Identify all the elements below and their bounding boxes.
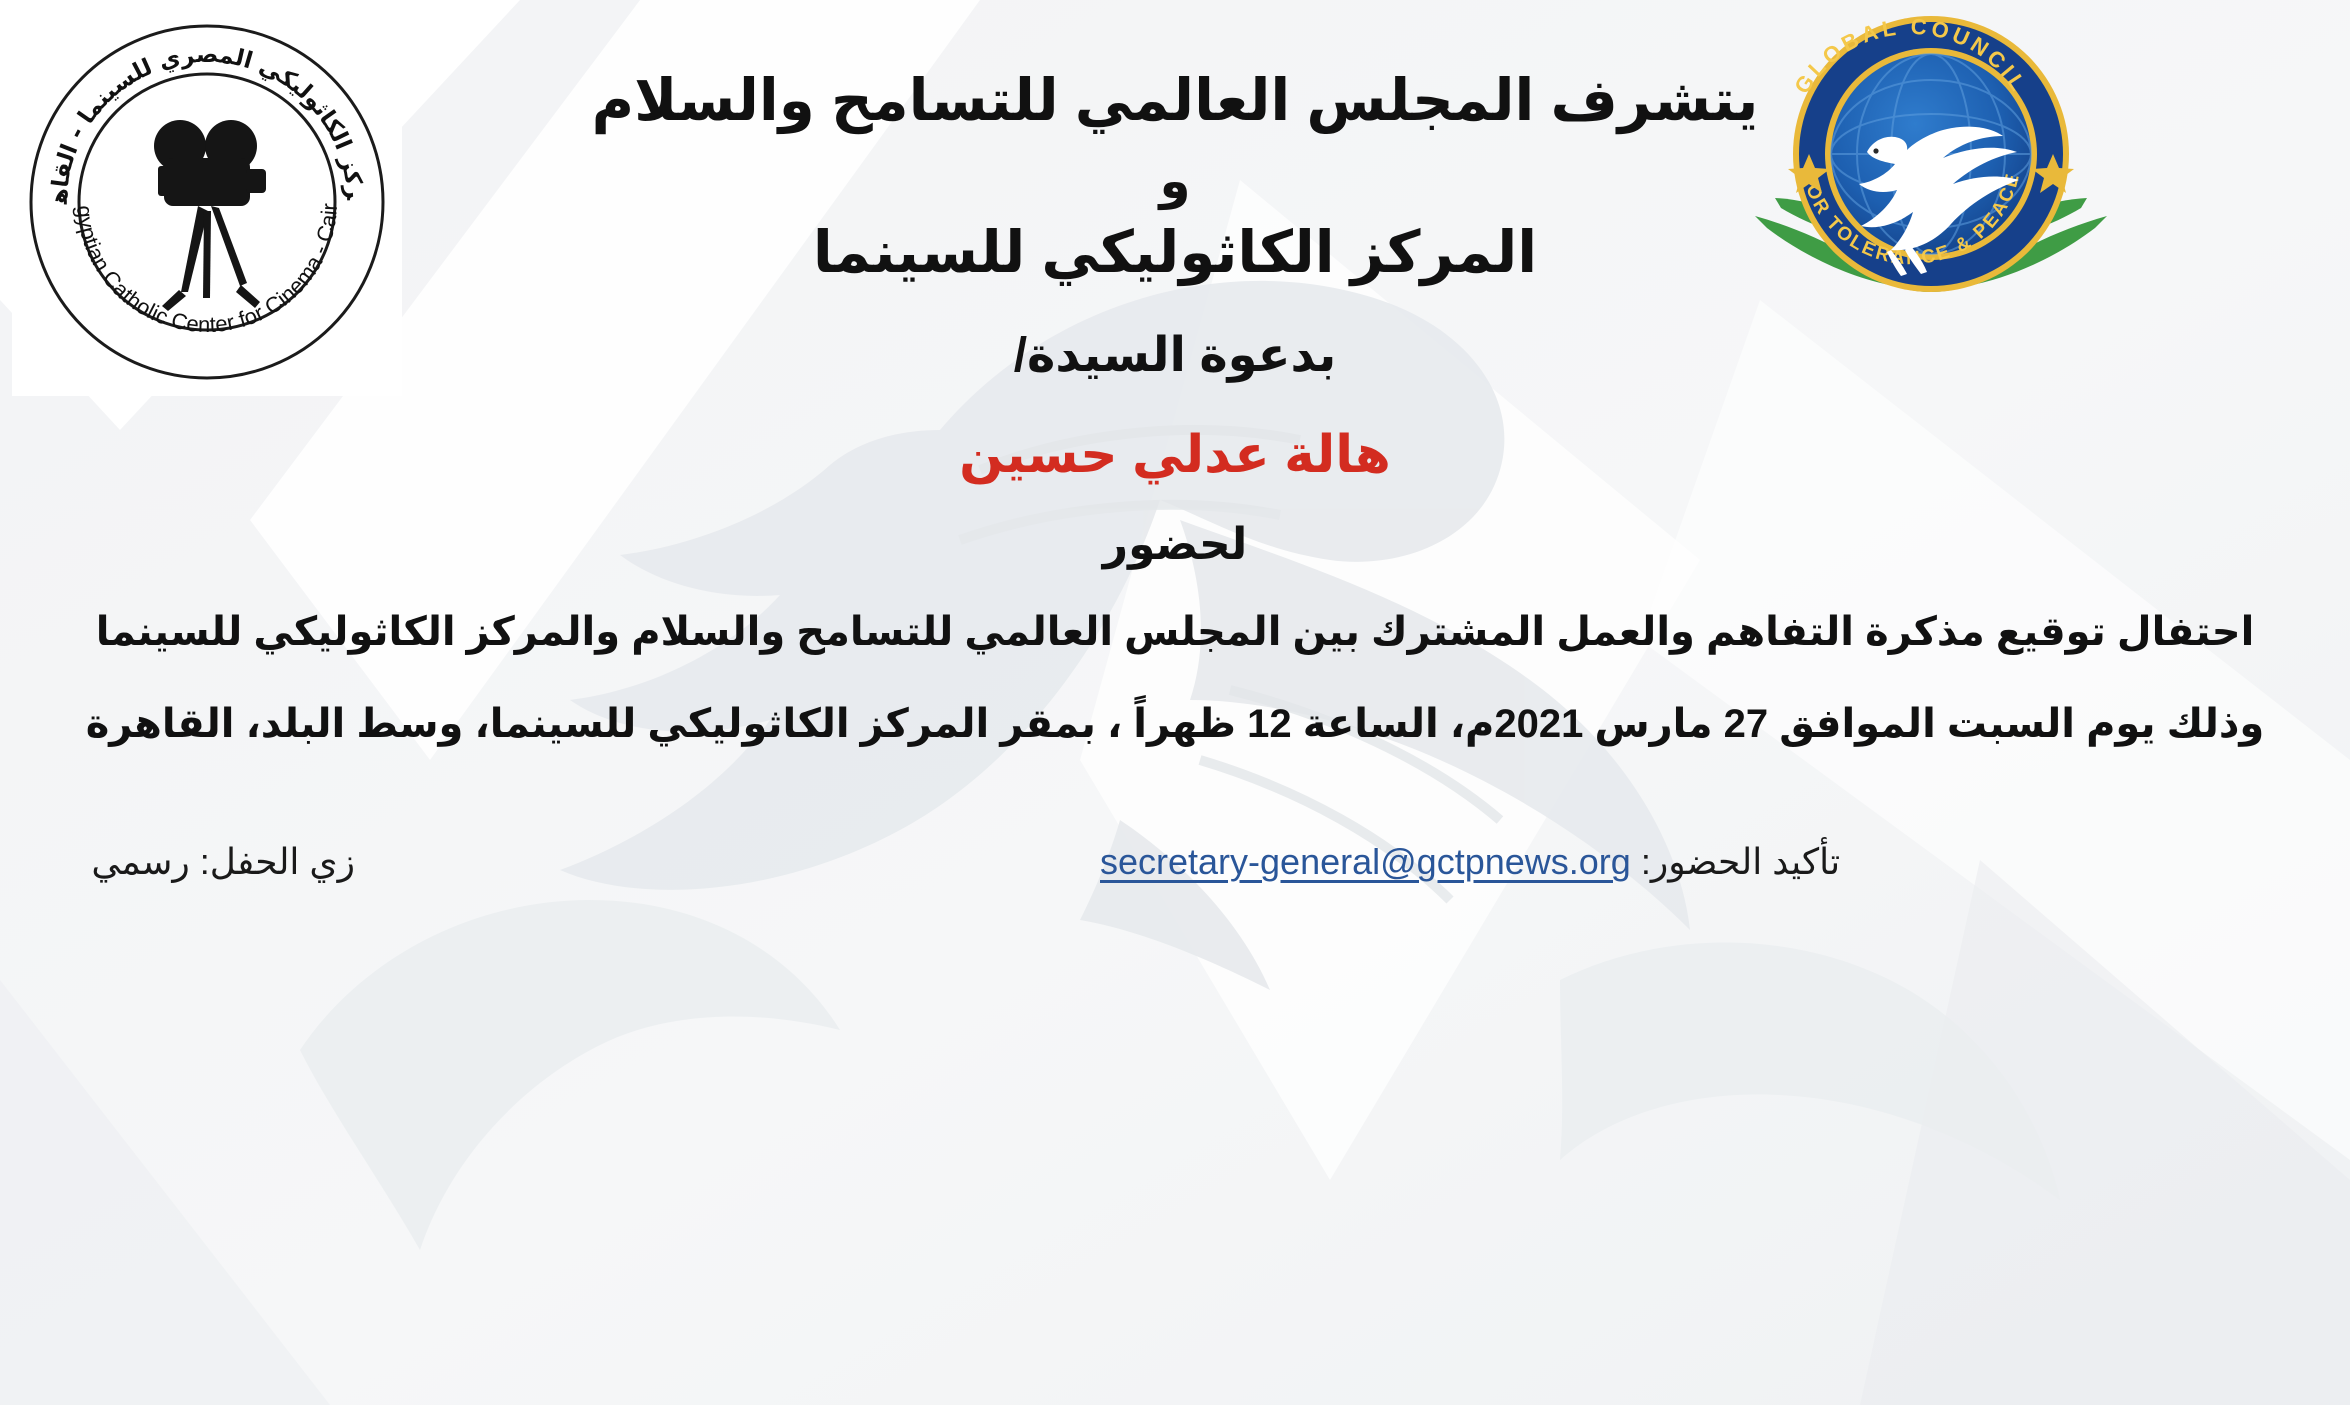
invitation-page: المركز الكاثوليكي المصري للسينما - القاه…: [0, 0, 2350, 1405]
guest-name: هالة عدلي حسين: [0, 425, 2350, 485]
body-line-date-time-venue: وذلك يوم السبت الموافق 27 مارس 2021م، ال…: [0, 701, 2350, 747]
rsvp-label: تأكيد الحضور:: [1641, 841, 1840, 882]
egyptian-catholic-center-logo: المركز الكاثوليكي المصري للسينما - القاه…: [12, 6, 402, 396]
rsvp-email-link[interactable]: secretary-general@gctpnews.org: [1100, 841, 1631, 883]
global-council-logo: GLOBAL COUNCIL FOR TOLERANCE & PEACE: [1745, 2, 2117, 294]
rsvp-block: تأكيد الحضور: secretary-general@gctpnews…: [1100, 841, 1840, 883]
attendance-label: لحضور: [0, 519, 2350, 570]
body-line-event-description: احتفال توقيع مذكرة التفاهم والعمل المشتر…: [0, 609, 2350, 655]
dress-code-note: زي الحفل: رسمي: [91, 841, 355, 883]
